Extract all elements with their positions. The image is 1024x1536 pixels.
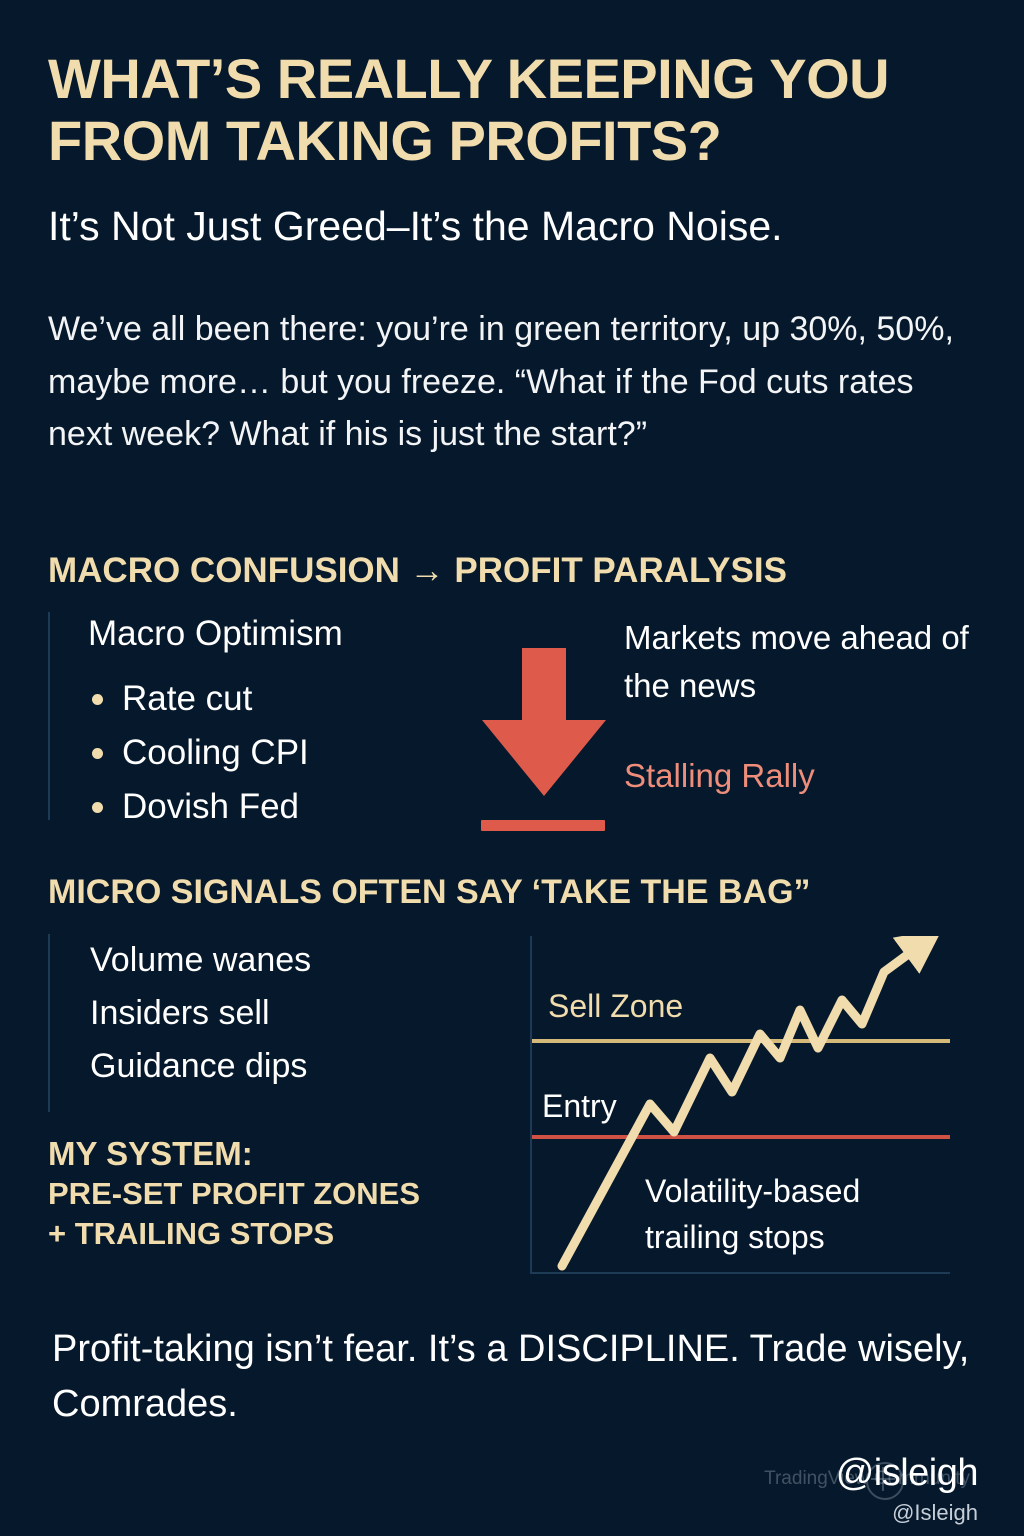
macro-section-heading: MACRO CONFUSION → PROFIT PARALYSIS — [48, 551, 787, 591]
markets-move-note: Markets move ahead of the news — [624, 614, 994, 710]
down-arrow-icon — [478, 648, 610, 798]
my-system-block: MY SYSTEM: PRE-SET PROFIT ZONES + TRAILI… — [48, 1134, 518, 1254]
stalling-rally-label: Stalling Rally — [624, 753, 954, 800]
system-line-3: + TRAILING STOPS — [48, 1214, 518, 1254]
system-line-1: MY SYSTEM: — [48, 1134, 518, 1174]
list-item: Rate cut — [88, 672, 309, 726]
micro-section-heading: MICRO SIGNALS OFTEN SAY ‘TAKE THE BAG” — [48, 873, 811, 912]
list-item: Guidance dips — [90, 1040, 311, 1093]
page-subtitle: It’s Not Just Greed–It’s the Macro Noise… — [48, 203, 988, 250]
micro-signals-list: Volume wanes Insiders sell Guidance dips — [90, 934, 311, 1093]
micro-section-divider — [48, 934, 50, 1112]
arrow-baseline-bar — [481, 820, 605, 831]
author-handle: @isleigh — [836, 1452, 978, 1495]
macro-optimism-list: Rate cut Cooling CPI Dovish Fed — [88, 672, 309, 834]
list-item: Volume wanes — [90, 934, 311, 987]
bullet-dot-icon — [92, 694, 103, 705]
macro-list-title: Macro Optimism — [88, 614, 343, 654]
list-item: Insiders sell — [90, 987, 311, 1040]
list-item-label: Dovish Fed — [122, 787, 299, 826]
infographic-poster: WHAT’S REALLY KEEPING YOU FROM TAKING PR… — [0, 0, 1024, 1536]
system-line-2: PRE-SET PROFIT ZONES — [48, 1174, 518, 1214]
page-title: WHAT’S REALLY KEEPING YOU FROM TAKING PR… — [48, 48, 988, 171]
closing-statement: Profit-taking isn’t fear. It’s a DISCIPL… — [52, 1322, 982, 1432]
bullet-dot-icon — [92, 748, 103, 759]
chart-sell-zone-label: Sell Zone — [548, 988, 683, 1025]
list-item: Cooling CPI — [88, 726, 309, 780]
bullet-dot-icon — [92, 802, 103, 813]
chart-trailing-stops-annotation: Volatility-based trailing stops — [645, 1168, 945, 1261]
author-handle-secondary: @Isleigh — [892, 1500, 978, 1526]
macro-section-divider — [48, 612, 50, 820]
intro-paragraph: We’ve all been there: you’re in green te… — [48, 303, 968, 461]
chart-entry-label: Entry — [542, 1088, 617, 1125]
list-item-label: Cooling CPI — [122, 733, 309, 772]
list-item: Dovish Fed — [88, 780, 309, 834]
list-item-label: Rate cut — [122, 679, 252, 718]
